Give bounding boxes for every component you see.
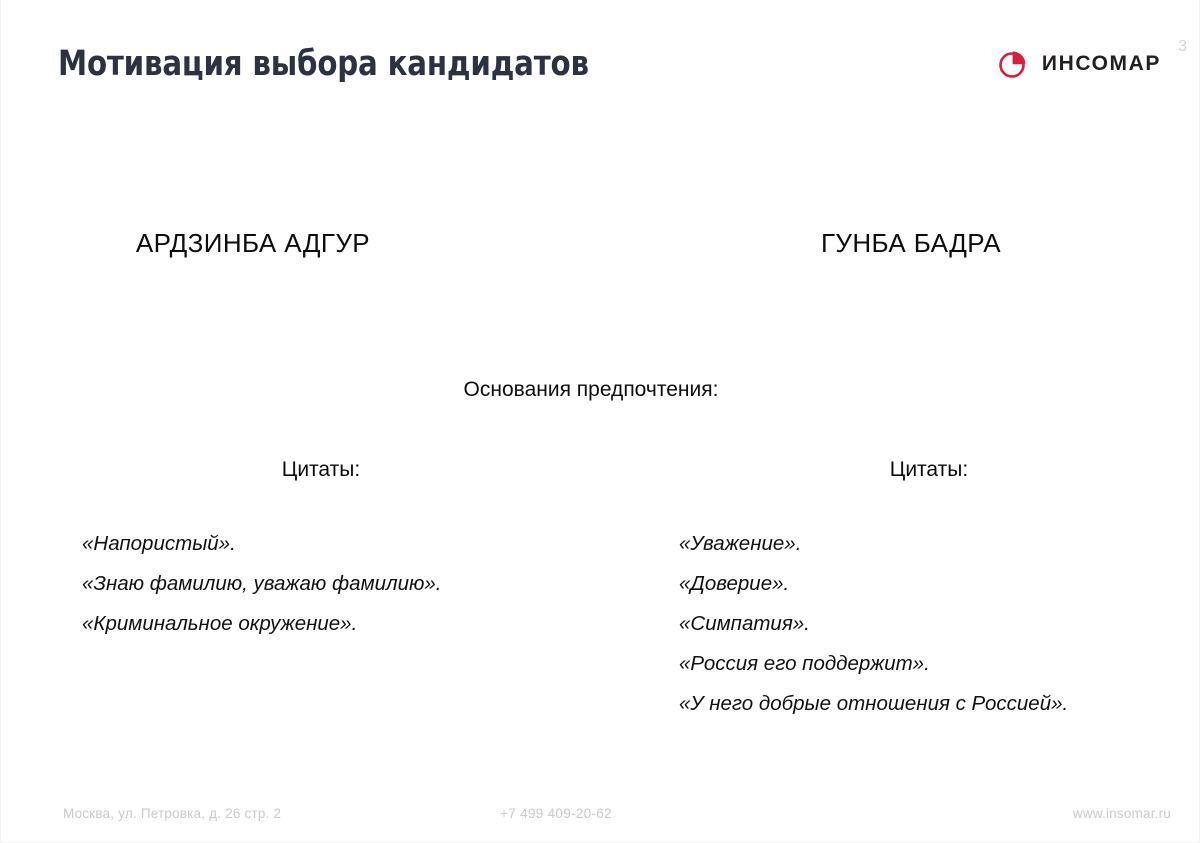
page-number: 3 [1178,38,1187,56]
footer-website[interactable]: www.insomar.ru [1073,806,1171,821]
slide-footer: Москва, ул. Петровка, д. 26 стр. 2 +7 49… [1,806,1200,828]
candidate-name-right: ГУНБА БАДРА [661,228,1161,259]
list-item: «Симпатия». [679,604,1189,644]
candidate-name-left: АРДЗИНБА АДГУР [1,228,505,259]
list-item: «У него добрые отношения с Россией». [679,684,1189,724]
presentation-slide: Мотивация выбора кандидатов ИНСОМАР 3 АР… [0,0,1200,843]
list-item: «Знаю фамилию, уважаю фамилию». [82,564,642,604]
list-item: «Напористый». [82,524,642,564]
logo-wordmark: ИНСОМАР [1042,52,1161,76]
list-item: «Россия его поддержит». [679,644,1189,684]
quotes-label-left: Цитаты: [1,458,641,482]
quotes-label-right: Цитаты: [701,458,1157,482]
pie-chart-circle-icon [997,48,1029,80]
list-item: «Криминальное окружение». [82,604,642,644]
insomar-logo: ИНСОМАР [997,48,1161,80]
quote-list-right: «Уважение». «Доверие». «Симпатия». «Росс… [679,524,1189,724]
quote-list-left: «Напористый». «Знаю фамилию, уважаю фами… [82,524,642,644]
list-item: «Доверие». [679,564,1189,604]
footer-phone: +7 499 409-20-62 [1,806,1111,821]
page-title: Мотивация выбора кандидатов [58,45,589,84]
section-heading: Основания предпочтения: [1,378,1181,402]
list-item: «Уважение». [679,524,1189,564]
